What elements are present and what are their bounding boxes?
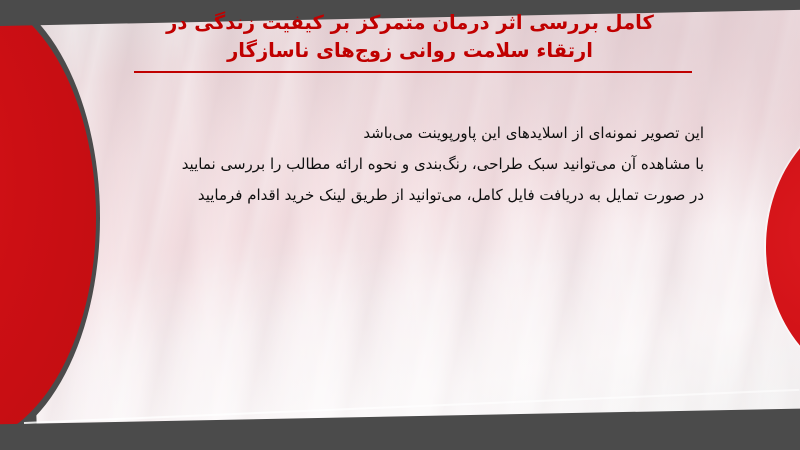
slide-body-line-2: با مشاهده آن می‌توانید سبک طراحی، رنگ‌بن… [94,149,704,180]
panel-vignette-overlay [0,0,800,450]
slide-title-underline [134,71,692,73]
slide-title: کامل بررسی اثر درمان متمرکز بر کیفیت زند… [130,9,690,65]
presentation-slide: کامل بررسی اثر درمان متمرکز بر کیفیت زند… [0,0,800,450]
slide-body-line-1: این تصویر نمونه‌ای از اسلایدهای این پاور… [94,118,704,149]
slide-body-text: این تصویر نمونه‌ای از اسلایدهای این پاور… [94,118,704,211]
slide-title-line-1: کامل بررسی اثر درمان متمرکز بر کیفیت زند… [130,9,690,37]
slide-content-panel [0,0,800,450]
slide-body-line-3: در صورت تمایل به دریافت فایل کامل، می‌تو… [94,180,704,211]
slide-title-line-2: ارتقاء سلامت روانی زوج‌های ناسازگار [130,37,690,65]
